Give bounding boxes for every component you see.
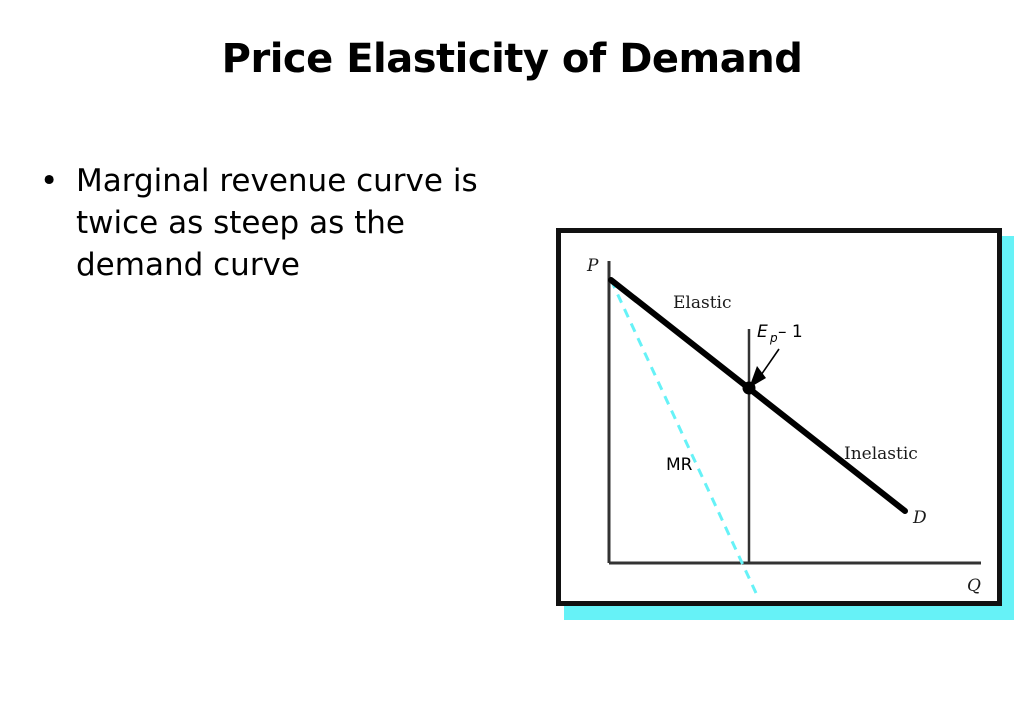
figure-frame-border: P Q E p – 1 Elastic Inelastic — [556, 228, 1002, 606]
bullet-marker-icon: • — [40, 160, 58, 202]
annotation-arrow-head-icon — [749, 366, 766, 388]
unit-elastic-label-value: – 1 — [778, 322, 803, 342]
elastic-region-label: Elastic — [673, 293, 732, 313]
unit-elastic-label: E p – 1 — [757, 322, 803, 345]
list-item: • Marginal revenue curve is twice as ste… — [26, 160, 526, 286]
y-axis-label: P — [586, 256, 599, 276]
page-title: Price Elasticity of Demand — [0, 36, 1024, 82]
inelastic-region-label: Inelastic — [844, 444, 918, 464]
demand-curve-label: D — [912, 508, 927, 528]
x-axis-label: Q — [967, 576, 981, 596]
demand-elasticity-figure: P Q E p – 1 Elastic Inelastic — [556, 228, 1014, 620]
unit-elastic-label-subscript: p — [769, 331, 778, 345]
elasticity-chart: P Q E p – 1 Elastic Inelastic — [561, 233, 1007, 611]
bullet-text: Marginal revenue curve is twice as steep… — [76, 160, 496, 286]
bullet-list: • Marginal revenue curve is twice as ste… — [26, 160, 526, 286]
demand-curve-line — [611, 280, 905, 511]
unit-elastic-label-main: E — [757, 322, 768, 342]
mr-curve-line — [611, 280, 756, 593]
mr-curve-label: MR — [666, 455, 693, 475]
